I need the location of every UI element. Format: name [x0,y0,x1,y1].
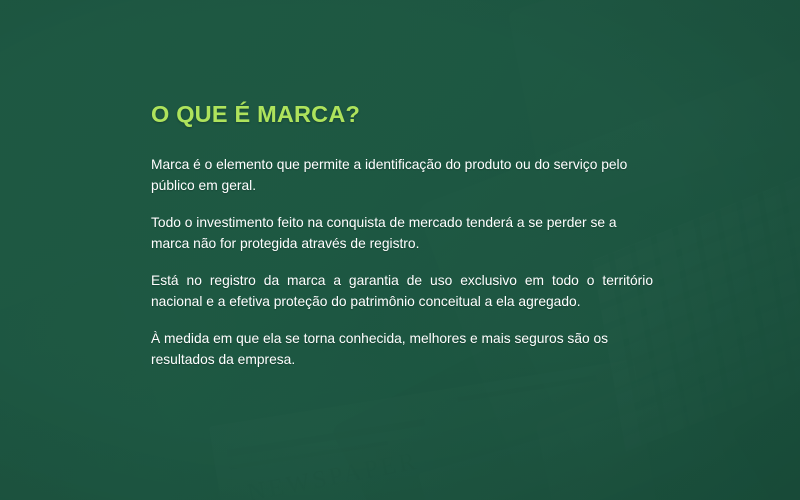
paragraph-investimento: Todo o investimento feito na conquista d… [151,213,653,254]
paragraph-resultados: À medida em que ela se torna conhecida, … [151,329,653,370]
slide-title: O QUE É MARCA? [151,101,360,128]
paragraph-definicao: Marca é o elemento que permite a identif… [151,155,653,196]
content-column: O QUE É MARCA? Marca é o elemento que pe… [151,0,653,500]
body-text-block: Marca é o elemento que permite a identif… [151,155,653,370]
paragraph-registro: Está no registro da marca a garantia de … [151,271,653,312]
slide-canvas: NEWSPAPER O QUE É MARCA? Marca é o eleme… [0,0,800,500]
tablet-shape-secondary [731,351,800,500]
